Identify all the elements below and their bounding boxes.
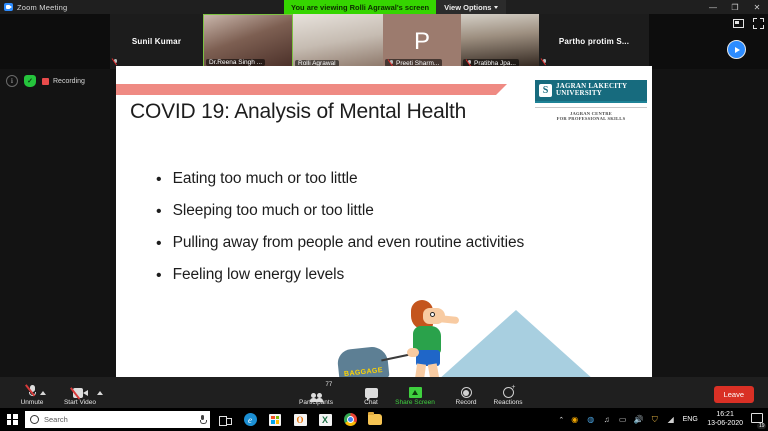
person-eye	[430, 312, 435, 317]
gallery-view-icon[interactable]	[733, 19, 744, 28]
tray-globe-icon[interactable]: ◍	[585, 414, 596, 425]
logo-line-2: UNIVERSITY	[556, 90, 627, 97]
participant-tile[interactable]: Sunil Kumar	[110, 14, 203, 69]
start-video-button[interactable]: Start Video	[54, 384, 106, 406]
slide-accent-band	[116, 84, 496, 95]
clock-time: 16:21	[707, 411, 743, 420]
app-title: Zoom Meeting	[17, 3, 67, 12]
task-view-icon[interactable]	[214, 408, 236, 431]
tray-display-icon[interactable]: ▭	[617, 414, 628, 425]
excel-icon[interactable]	[314, 408, 336, 431]
participant-name: Dr.Reena Singh ...	[209, 59, 262, 66]
bullet-text: Sleeping too much or too little	[173, 202, 374, 219]
list-item: • Eating too much or too little	[156, 170, 626, 188]
fullscreen-icon[interactable]	[753, 18, 764, 29]
next-participants-button[interactable]	[727, 40, 746, 59]
list-item: • Sleeping too much or too little	[156, 202, 626, 220]
participant-tile[interactable]: Pratibha Jpa...	[461, 14, 539, 69]
mic-off-icon	[28, 384, 36, 398]
university-logo: S JAGRAN LAKECITY UNIVERSITY JAGRAN CENT…	[535, 80, 647, 122]
zoom-meeting-toolbar: Unmute Start Video 77 Participants Chat …	[0, 377, 768, 408]
minimize-button[interactable]: —	[702, 0, 724, 14]
logo-text: JAGRAN LAKECITY UNIVERSITY	[556, 83, 627, 98]
search-placeholder: Search	[44, 415, 195, 424]
participant-tile[interactable]: Rolli Agrawal	[293, 14, 383, 69]
logo-mark-icon: S	[539, 84, 552, 97]
participants-icon: 77	[311, 384, 322, 398]
bullet-icon: •	[156, 236, 162, 252]
bullet-icon: •	[156, 172, 162, 188]
clock[interactable]: 16:21 13-06-2020	[704, 411, 746, 429]
shield-check-icon[interactable]	[24, 75, 36, 87]
meeting-info-button[interactable]: i	[6, 75, 18, 87]
share-label: Share Screen	[395, 399, 435, 406]
participant-name: Partho protim S...	[559, 37, 629, 46]
record-icon	[461, 384, 472, 398]
notification-icon	[751, 413, 763, 423]
google-chrome-icon[interactable]	[339, 408, 361, 431]
participants-button[interactable]: 77 Participants	[290, 384, 342, 406]
shared-screen-slide: COVID 19: Analysis of Mental Health S JA…	[116, 66, 652, 380]
recording-label: Recording	[53, 78, 85, 85]
logo-sub-2: FOR PROFESSIONAL SKILLS	[535, 116, 647, 122]
logo-banner: S JAGRAN LAKECITY UNIVERSITY	[535, 80, 647, 103]
language-indicator[interactable]: ENG	[681, 414, 699, 425]
mic-off-icon	[541, 58, 547, 66]
reactions-button[interactable]: Reactions	[482, 384, 534, 406]
audio-options-chevron-icon[interactable]	[40, 391, 46, 395]
bullet-text: Feeling low energy levels	[173, 266, 345, 283]
tray-shield-icon[interactable]: ◉	[569, 414, 580, 425]
person-hand	[407, 348, 419, 357]
cortana-circle-icon	[30, 415, 39, 424]
title-bar-left: Zoom Meeting	[0, 3, 270, 12]
close-button[interactable]: ✕	[746, 0, 768, 14]
bullet-icon: •	[156, 268, 162, 284]
bullet-text: Eating too much or too little	[173, 170, 358, 187]
record-dot-icon	[42, 78, 49, 85]
search-input[interactable]: Search	[25, 411, 210, 428]
view-options-label: View Options	[444, 3, 491, 12]
leave-meeting-button[interactable]: Leave	[714, 386, 754, 403]
participant-tile[interactable]: Partho protim S...	[539, 14, 649, 69]
cartoon-person	[401, 298, 463, 380]
file-explorer-icon[interactable]	[364, 408, 386, 431]
reactions-icon	[503, 384, 514, 398]
mute-button[interactable]: Unmute	[6, 384, 58, 406]
reactions-label: Reactions	[494, 399, 523, 406]
share-screen-button[interactable]: Share Screen	[385, 384, 445, 406]
notification-count: 19	[757, 423, 766, 429]
window-controls: — ❐ ✕	[702, 0, 768, 14]
record-label: Record	[456, 399, 477, 406]
tray-expand-chevron-icon[interactable]: ⌃	[558, 416, 564, 424]
chevron-down-icon	[494, 6, 498, 9]
tray-music-icon[interactable]: ♫	[601, 414, 612, 425]
zoom-logo-icon	[4, 3, 13, 11]
recording-indicator[interactable]: Recording	[42, 78, 85, 85]
strip-left-spacer	[0, 14, 110, 69]
screen-share-banner: You are viewing Rolli Agrawal's screen V…	[284, 0, 506, 14]
windows-start-icon[interactable]	[0, 408, 24, 431]
mic-off-icon	[112, 58, 118, 66]
tray-network-icon[interactable]: ◢	[665, 414, 676, 425]
tray-volume-icon[interactable]: 🔊	[633, 414, 644, 425]
view-mode-controls	[733, 18, 764, 29]
slide-illustration: BAGGAGE	[116, 292, 652, 380]
video-label: Start Video	[64, 399, 96, 406]
view-options-button[interactable]: View Options	[436, 0, 506, 14]
tray-security-icon[interactable]: ⛉	[649, 414, 660, 425]
outlook-icon[interactable]	[289, 408, 311, 431]
participant-tile[interactable]: P Preeti Sharm...	[383, 14, 461, 69]
participant-video-strip: Sunil Kumar Dr.Reena Singh ... Rolli Agr…	[0, 14, 768, 69]
camera-off-icon	[73, 384, 88, 398]
slide-bullet-list: • Eating too much or too little • Sleepi…	[156, 170, 626, 298]
participant-name: Sunil Kumar	[132, 37, 181, 46]
meeting-status-bar: i Recording	[0, 70, 116, 92]
participant-tile[interactable]: Dr.Reena Singh ...	[203, 14, 293, 69]
chat-icon	[365, 384, 378, 398]
participants-count: 77	[326, 382, 333, 388]
list-item: • Pulling away from people and even rout…	[156, 234, 626, 252]
bullet-icon: •	[156, 204, 162, 220]
taskbar-app-icons: e	[214, 408, 386, 431]
clock-date: 13-06-2020	[707, 420, 743, 429]
windows-taskbar: Search e ⌃ ◉ ◍ ♫ ▭ 🔊 ⛉ ◢ ENG 16:21 13-06…	[0, 408, 768, 431]
zoom-meeting-window: Zoom Meeting You are viewing Rolli Agraw…	[0, 0, 768, 431]
list-item: • Feeling low energy levels	[156, 266, 626, 284]
restore-button[interactable]: ❐	[724, 0, 746, 14]
logo-subtitle: JAGRAN CENTRE FOR PROFESSIONAL SKILLS	[535, 107, 647, 122]
share-screen-icon	[409, 384, 422, 398]
participant-name-plate: Dr.Reena Singh ...	[206, 59, 265, 66]
video-options-chevron-icon[interactable]	[97, 391, 103, 395]
microsoft-edge-icon[interactable]: e	[239, 408, 261, 431]
microsoft-store-icon[interactable]	[264, 408, 286, 431]
window-title-bar: Zoom Meeting You are viewing Rolli Agraw…	[0, 0, 768, 14]
slide-title: COVID 19: Analysis of Mental Health	[130, 100, 466, 124]
microphone-icon[interactable]	[200, 415, 205, 424]
bullet-text: Pulling away from people and even routin…	[173, 234, 525, 251]
sharing-status-text: You are viewing Rolli Agrawal's screen	[284, 0, 436, 14]
system-tray: ⌃ ◉ ◍ ♫ ▭ 🔊 ⛉ ◢ ENG 16:21 13-06-2020 19	[558, 408, 768, 431]
mute-label: Unmute	[21, 399, 44, 406]
notifications-button[interactable]: 19	[751, 413, 765, 427]
